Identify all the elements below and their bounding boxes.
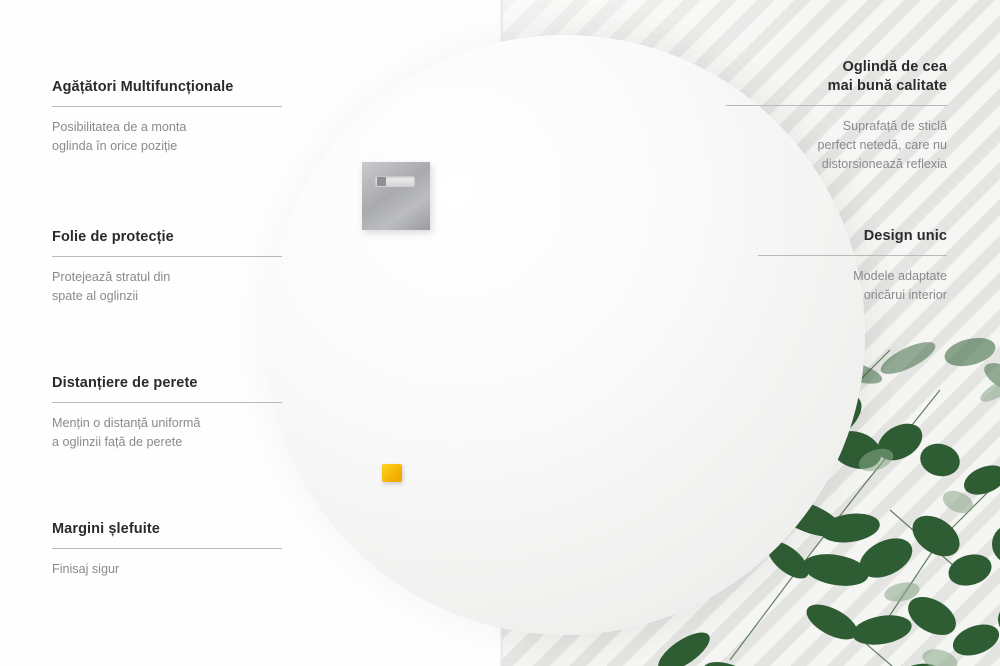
label-title: Agățători Multifuncționale [52, 78, 282, 97]
label-title: Distanțiere de perete [52, 374, 282, 393]
label-desc: Modele adaptateoricărui interior [758, 267, 947, 305]
label-rule [52, 106, 282, 107]
label-desc: Suprafață de sticlăperfect netedă, care … [726, 117, 947, 174]
label-best-quality-mirror: Oglindă de ceamai bună calitate Suprafaț… [726, 58, 947, 174]
label-desc: Posibilitatea de a montaoglinda în orice… [52, 118, 282, 156]
label-rule [52, 402, 282, 403]
label-desc: Finisaj sigur [52, 560, 282, 579]
label-multifunctional-hangers: Agățători Multifuncționale Posibilitatea… [52, 78, 282, 156]
infographic-stage: Agățători Multifuncționale Posibilitatea… [0, 0, 1000, 666]
label-polished-edges: Margini șlefuite Finisaj sigur [52, 520, 282, 579]
hanger-plate [362, 162, 430, 230]
label-protective-film: Folie de protecție Protejează stratul di… [52, 228, 282, 306]
wall-spacer [382, 464, 402, 482]
label-unique-design: Design unic Modele adaptateoricărui inte… [758, 227, 947, 305]
label-rule [52, 548, 282, 549]
label-rule [726, 105, 947, 106]
label-title: Oglindă de ceamai bună calitate [726, 58, 947, 96]
label-rule [52, 256, 282, 257]
label-desc: Mențin o distanță uniformăa oglinzii faț… [52, 414, 282, 452]
label-title: Design unic [758, 227, 947, 246]
label-desc: Protejează stratul dinspate al oglinzii [52, 268, 282, 306]
label-title: Folie de protecție [52, 228, 282, 247]
label-rule [758, 255, 947, 256]
hanger-keyhole [377, 177, 386, 186]
label-title: Margini șlefuite [52, 520, 282, 539]
label-wall-spacers: Distanțiere de perete Mențin o distanță … [52, 374, 282, 452]
